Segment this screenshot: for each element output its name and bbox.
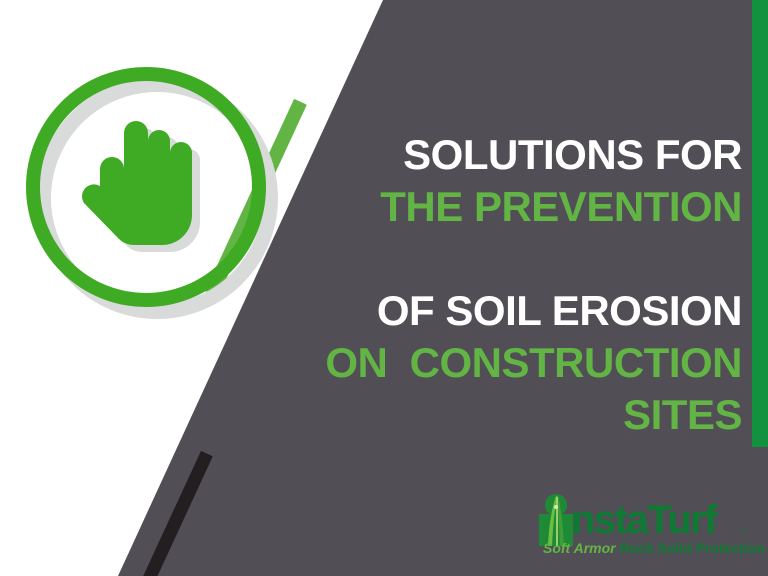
headline-line-5: SITES bbox=[120, 394, 742, 436]
logo-tagline-rest: Rock Solid Protection bbox=[616, 540, 765, 556]
slide-canvas: SOLUTIONS FOR THE PREVENTION OF SOIL ERO… bbox=[0, 0, 768, 576]
right-green-bar bbox=[752, 0, 768, 447]
headline-line-1: SOLUTIONS FOR bbox=[120, 134, 742, 176]
logo-tagline: Soft Armor Rock Solid Protection bbox=[543, 541, 765, 555]
logo-wordmark: nstaTurf bbox=[571, 500, 716, 540]
headline-line-3: OF SOIL EROSION bbox=[120, 290, 742, 332]
logo-tagline-emphasis: Soft Armor bbox=[543, 540, 616, 556]
headline-spacer bbox=[120, 228, 742, 290]
headline-line-4: ON CONSTRUCTION bbox=[120, 342, 742, 384]
headline-block: SOLUTIONS FOR THE PREVENTION OF SOIL ERO… bbox=[120, 134, 742, 436]
logo-trademark: ™ bbox=[738, 528, 746, 537]
headline-line-2: THE PREVENTION bbox=[120, 186, 742, 228]
instaturf-logo: nstaTurf ™ Soft Armor Rock Solid Protect… bbox=[535, 494, 750, 562]
